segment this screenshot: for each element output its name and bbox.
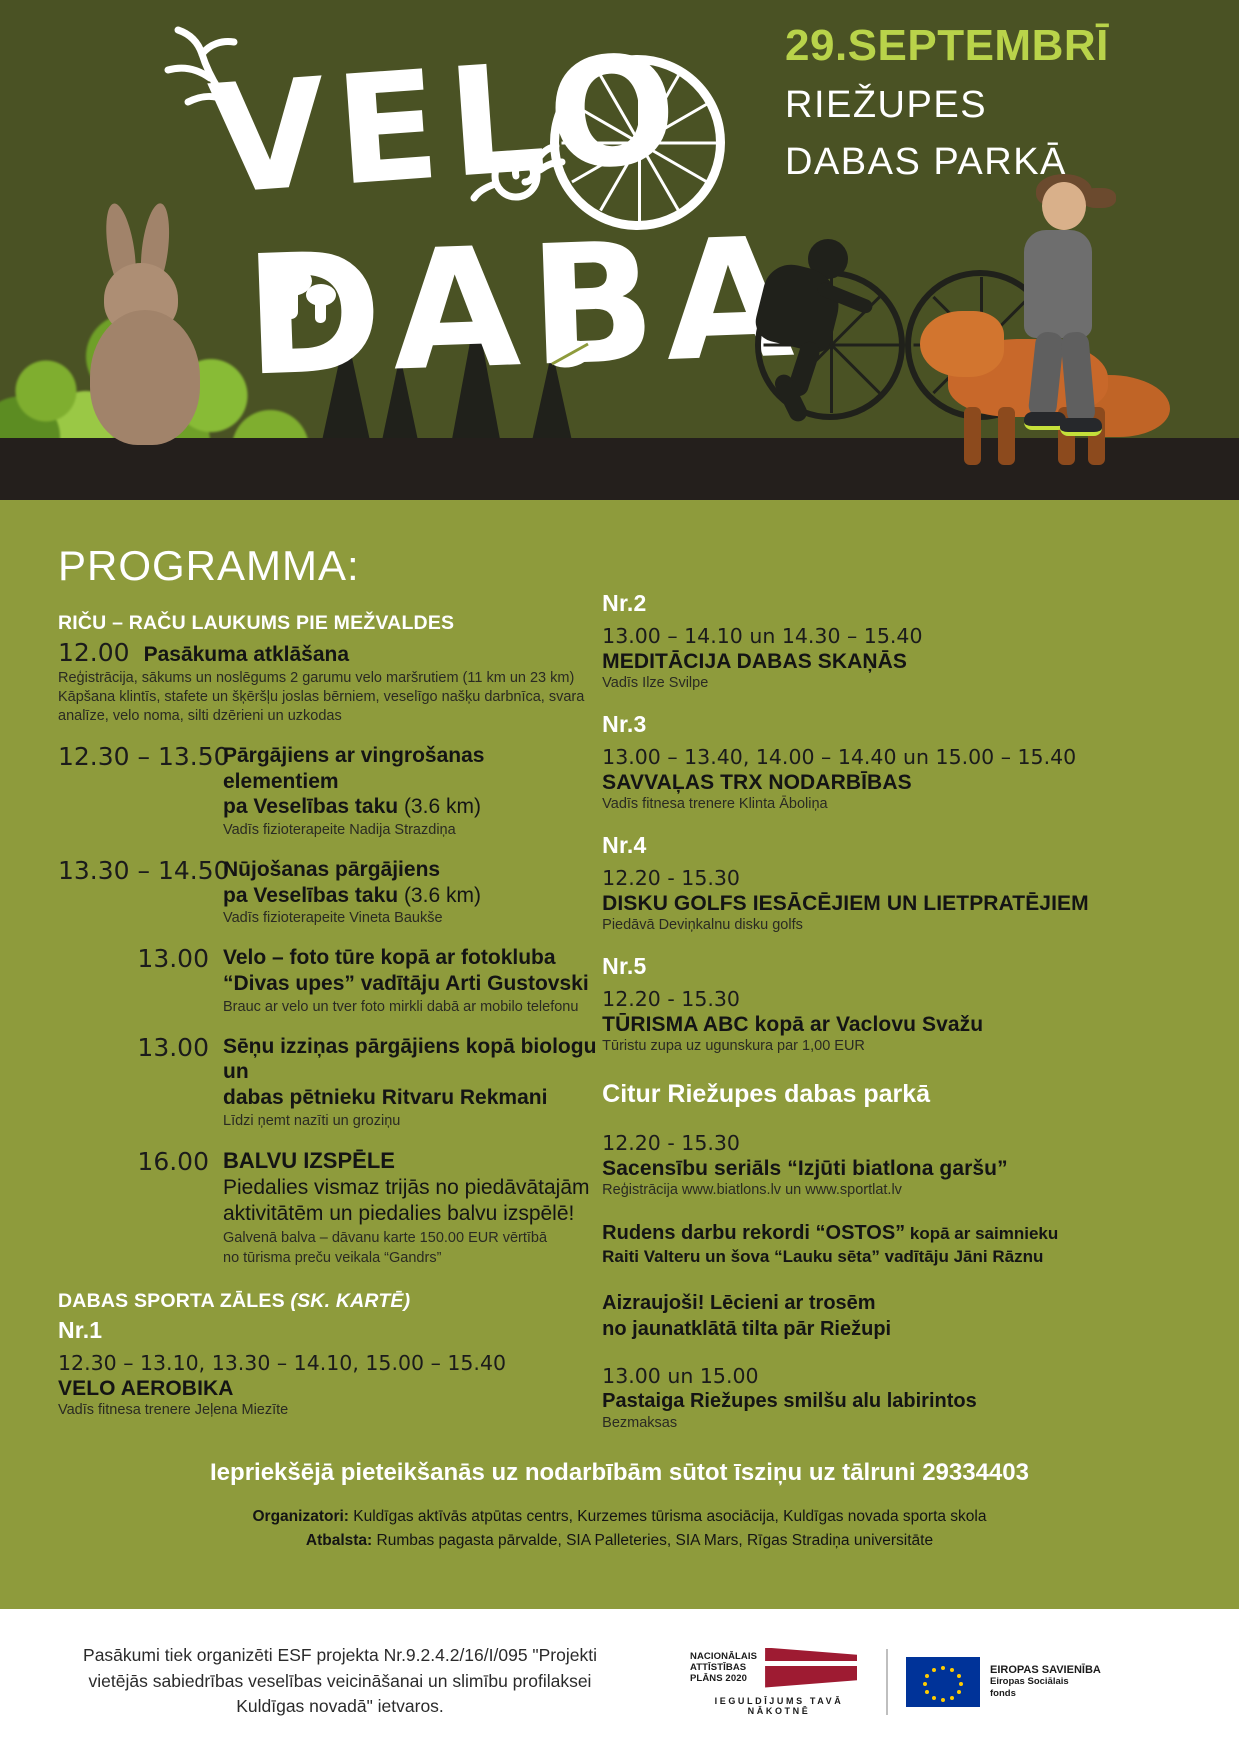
title-regular: (3.6 km) (398, 795, 481, 818)
prize-note-line1: Galvenā balva – dāvanu karte 150.00 EUR … (223, 1229, 597, 1249)
program-item: 12.30 – 13.50 Pārgājiens ar vingrošanas … (58, 743, 597, 840)
program-item-description: Līdzi ņemt nazīti un groziņu (223, 1112, 597, 1131)
venue-label-nr4: Nr.4 (602, 832, 1199, 859)
section-heading-sports-halls: DABAS SPORTA ZĀLES (SK. KARTĒ) (58, 1290, 597, 1313)
funding-disclaimer-line3: Kuldīgas novadā" ietvaros. (20, 1694, 660, 1719)
venue-label-nr1: Nr.1 (58, 1317, 597, 1344)
venue-description-nr4: Piedāvā Deviņkalnu disku golfs (602, 917, 1199, 933)
elsewhere-strong-line2: no jaunatklātā tilta pār Riežupi (602, 1316, 1199, 1342)
venue-time-nr5: 12.20 - 15.30 (602, 987, 1199, 1011)
latvia-flag-icon (765, 1648, 857, 1688)
elsewhere-item-biathlon: 12.20 - 15.30 Sacensību seriāls “Izjūti … (602, 1131, 1199, 1198)
eu-logo: EIROPAS SAVIENĪBA Eiropas Sociālais fond… (906, 1657, 1101, 1707)
program-item-time: 13.30 – 14.50 (58, 857, 209, 886)
eu-flag-icon (906, 1657, 980, 1707)
program-item-time: 13.00 (58, 1034, 209, 1063)
program-item-description: Reģistrācija, sākums un noslēgums 2 garu… (58, 669, 597, 726)
program-item: 13.00 Velo – foto tūre kopā ar fotokluba… (58, 945, 597, 1016)
venue-time-nr2: 13.00 – 14.10 un 14.30 – 15.40 (602, 624, 1199, 648)
program-content: PROGRAMMA: RIČU – RAČU LAUKUMS PIE MEŽVA… (0, 500, 1239, 1573)
program-item-title-line2: pa Veselības taku (3.6 km) (223, 883, 597, 909)
venue-title-nr3: SAVVAĻAS TRX NODARBĪBAS (602, 771, 1199, 795)
program-item-title-line2: “Divas upes” vadītāju Arti Gustovski (223, 971, 597, 997)
venue-time-nr4: 12.20 - 15.30 (602, 866, 1199, 890)
strong-text: Rudens darbu rekordi “OSTOS” (602, 1222, 905, 1244)
program-item: 13.30 – 14.50 Nūjošanas pārgājiens pa Ve… (58, 857, 597, 928)
elsewhere-item-rope-jumps: Aizraujoši! Lēcieni ar trosēm no jaunatk… (602, 1290, 1199, 1342)
title-bold: pa Veselības taku (223, 884, 398, 907)
leaf-icon (540, 330, 600, 384)
program-item-description: Vadīs fizioterapeite Vineta Baukše (223, 909, 597, 928)
program-right-column: Nr.2 13.00 – 14.10 un 14.30 – 15.40 MEDI… (602, 590, 1199, 1431)
organizers-names: Kuldīgas aktīvās atpūtas centrs, Kurzeme… (349, 1508, 987, 1525)
venue-title-nr2: MEDITĀCIJA DABAS SKAŅĀS (602, 650, 1199, 674)
elsewhere-time: 13.00 un 15.00 (602, 1364, 1199, 1388)
section-heading-text: DABAS SPORTA ZĀLES (58, 1290, 285, 1312)
nap-line1: NACIONĀLAIS (690, 1651, 757, 1662)
venue-label-nr5: Nr.5 (602, 953, 1199, 980)
venue-description-nr1: Vadīs fitnesa trenere Jeļena Miezīte (58, 1402, 597, 1418)
venue-title-nr4: DISKU GOLFS IESĀCĒJIEM UN LIETPRATĒJIEM (602, 892, 1199, 916)
nap-line3: PLĀNS 2020 (690, 1673, 757, 1684)
program-item-title-line1: Velo – foto tūre kopā ar fotokluba (223, 945, 597, 971)
venue-time-nr1: 12.30 – 13.10, 13.30 – 14.10, 15.00 – 15… (58, 1351, 597, 1375)
bicycle-wheel-icon (550, 55, 725, 230)
elsewhere-item-sand-caves: 13.00 un 15.00 Pastaiga Riežupes smilšu … (602, 1364, 1199, 1431)
funding-logos: NACIONĀLAIS ATTĪSTĪBAS PLĀNS 2020 IEGULD… (660, 1648, 1101, 1716)
eu-line1: EIROPAS SAVIENĪBA (990, 1664, 1101, 1676)
program-columns: RIČU – RAČU LAUKUMS PIE MEŽVALDES 12.00 … (0, 590, 1239, 1431)
eu-logo-text: EIROPAS SAVIENĪBA Eiropas Sociālais fond… (990, 1664, 1101, 1700)
venue-time-nr3: 13.00 – 13.40, 14.00 – 14.40 un 15.00 – … (602, 745, 1199, 769)
elsewhere-time: 12.20 - 15.30 (602, 1131, 1199, 1155)
venue-label-nr3: Nr.3 (602, 711, 1199, 738)
elsewhere-description: Reģistrācija www.biatlons.lv un www.spor… (602, 1182, 1199, 1198)
supporters-names: Rumbas pagasta pārvalde, SIA Palleteries… (372, 1532, 933, 1549)
program-item: 12.00 Pasākuma atklāšana Reģistrācija, s… (58, 639, 597, 726)
elsewhere-strong-line2: Raiti Valteru un šova “Lauku sēta” vadīt… (602, 1246, 1199, 1268)
funding-disclaimer-line1: Pasākumi tiek organizēti ESF projekta Nr… (20, 1643, 660, 1668)
footer-funding-bar: Pasākumi tiek organizēti ESF projekta Nr… (0, 1609, 1239, 1754)
program-item-title-line1: Pārgājiens ar vingrošanas elementiem (223, 743, 597, 794)
supporters-line: Atbalsta: Rumbas pagasta pārvalde, SIA P… (0, 1529, 1239, 1553)
page-title: PROGRAMMA: (58, 542, 1239, 590)
organizers-label: Organizatori: (253, 1508, 349, 1525)
logo-divider (886, 1649, 888, 1715)
venue-description-nr2: Vadīs Ilze Svilpe (602, 675, 1199, 691)
section-heading-ricu-racu: RIČU – RAČU LAUKUMS PIE MEŽVALDES (58, 612, 597, 635)
elsewhere-item-autumn-records: Rudens darbu rekordi “OSTOS” kopā ar sai… (602, 1220, 1199, 1268)
event-date: 29.SEPTEMBRĪ (785, 22, 1205, 70)
snail-icon (470, 140, 566, 206)
elsewhere-strong-line1: Aizraujoši! Lēcieni ar trosēm (602, 1290, 1199, 1316)
registration-call-to-action: Iepriekšējā pieteikšanās uz nodarbībām s… (0, 1459, 1239, 1487)
hero-headline: 29.SEPTEMBRĪ RIEŽUPES DABAS PARKĀ (785, 22, 1205, 184)
eu-line3: fonds (990, 1688, 1101, 1700)
program-item-title-line2: pa Veselības taku (3.6 km) (223, 794, 597, 820)
venue-title-nr1: VELO AEROBIKA (58, 1377, 597, 1401)
organizers-line: Organizatori: Kuldīgas aktīvās atpūtas c… (0, 1505, 1239, 1529)
program-item-title-line1: Sēņu izziņas pārgājiens kopā biologu un (223, 1034, 597, 1085)
prize-paragraph-line1: Piedalies vismaz trijās no piedāvātajām (223, 1175, 597, 1201)
elsewhere-title: Pastaiga Riežupes smilšu alu labirintos (602, 1388, 1199, 1414)
event-place-line2: DABAS PARKĀ (785, 141, 1205, 184)
supporters-label: Atbalsta: (306, 1532, 372, 1549)
venue-description-nr3: Vadīs fitnesa trenere Klinta Āboliņa (602, 796, 1199, 812)
elsewhere-strong-line1: Rudens darbu rekordi “OSTOS” kopā ar sai… (602, 1220, 1199, 1246)
program-left-column: RIČU – RAČU LAUKUMS PIE MEŽVALDES 12.00 … (0, 590, 597, 1431)
program-item-title-line2: dabas pētnieku Ritvaru Rekmani (223, 1085, 597, 1111)
section-heading-elsewhere: Citur Riežupes dabas parkā (602, 1080, 1199, 1109)
event-place-line1: RIEŽUPES (785, 84, 1205, 127)
mushroom-icon (265, 255, 343, 333)
organizers-block: Organizatori: Kuldīgas aktīvās atpūtas c… (0, 1505, 1239, 1573)
venue-title-nr5: TŪRISMA ABC kopā ar Vaclovu Svažu (602, 1013, 1199, 1037)
program-item-time: 12.30 – 13.50 (58, 743, 209, 772)
program-item: 13.00 Sēņu izziņas pārgājiens kopā biolo… (58, 1034, 597, 1131)
program-item-description: Vadīs fizioterapeite Nadija Strazdiņa (223, 821, 597, 840)
eu-line2: Eiropas Sociālais (990, 1676, 1101, 1688)
program-item-time: 13.00 (58, 945, 209, 974)
funding-disclaimer: Pasākumi tiek organizēti ESF projekta Nr… (0, 1643, 660, 1719)
prize-paragraph-line2: aktivitātēm un piedalies balvu izspēlē! (223, 1201, 597, 1227)
strong-text-small: kopā ar saimnieku (905, 1224, 1058, 1243)
program-item-title: BALVU IZSPĒLE (223, 1148, 597, 1175)
elsewhere-title: Sacensību seriāls “Izjūti biatlona garšu… (602, 1157, 1199, 1181)
prize-note-line2: no tūrisma preču veikala “Gandrs” (223, 1249, 597, 1269)
poster: VELO DABA (0, 0, 1239, 1754)
venue-label-nr2: Nr.2 (602, 590, 1199, 617)
program-item-time: 12.00 (58, 639, 130, 668)
section-heading-note: (SK. KARTĒ) (290, 1290, 410, 1312)
nap2020-logo: NACIONĀLAIS ATTĪSTĪBAS PLĀNS 2020 IEGULD… (690, 1648, 868, 1716)
hero-banner: VELO DABA (0, 0, 1239, 500)
cyclist-silhouette (690, 237, 930, 452)
program-item-time: 16.00 (58, 1148, 209, 1177)
rabbit-photo (72, 215, 222, 445)
venue-description-nr5: Tūristu zupa uz ugunskura par 1,00 EUR (602, 1038, 1199, 1054)
title-bold: pa Veselības taku (223, 795, 398, 818)
program-item-description: Brauc ar velo un tver foto mirkli dabā a… (223, 998, 597, 1017)
nap-slogan: IEGULDĪJUMS TAVĀ NĀKOTNĒ (690, 1696, 868, 1716)
title-regular: (3.6 km) (398, 884, 481, 907)
nap-line2: ATTĪSTĪBAS (690, 1662, 757, 1673)
runner-photo (994, 172, 1124, 462)
program-item-prize-draw: 16.00 BALVU IZSPĒLE Piedalies vismaz tri… (58, 1148, 597, 1268)
funding-disclaimer-line2: vietējās sabiedrības veselības veicināša… (20, 1669, 660, 1694)
program-item-title-line1: Nūjošanas pārgājiens (223, 857, 597, 883)
program-item-title: Pasākuma atklāšana (144, 642, 349, 668)
elsewhere-description: Bezmaksas (602, 1415, 1199, 1431)
